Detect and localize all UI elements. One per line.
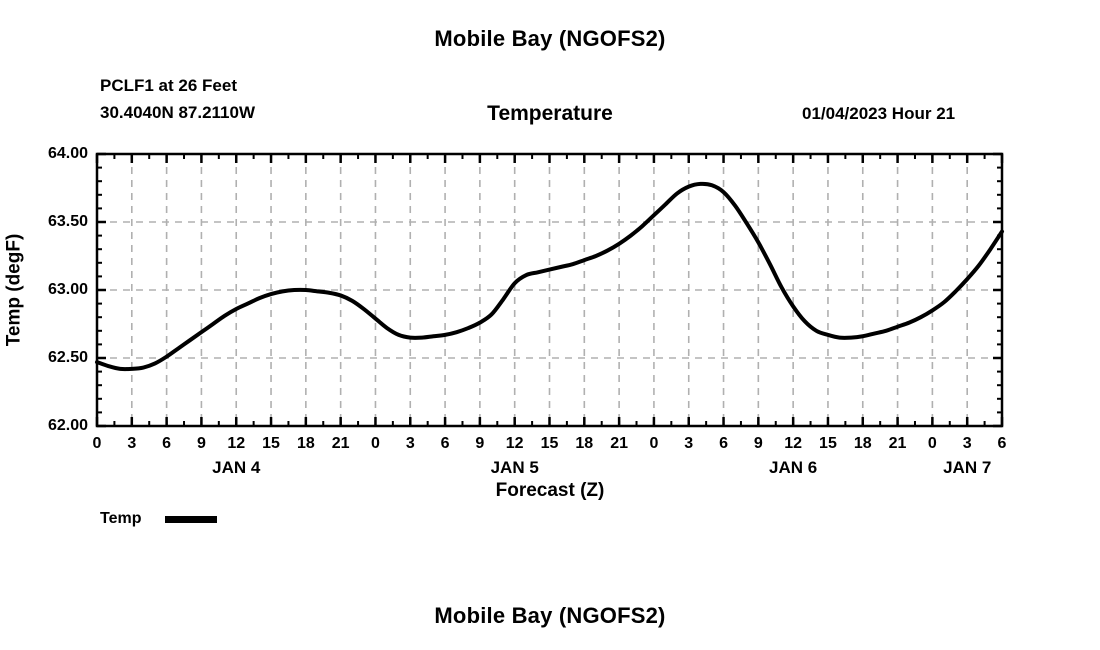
x-tick-label: 21 [883, 436, 913, 452]
x-tick-label: 0 [360, 436, 390, 452]
x-axis-day-label: JAN 4 [176, 459, 296, 476]
x-tick-label: 21 [326, 436, 356, 452]
x-tick-label: 0 [917, 436, 947, 452]
x-tick-label: 6 [152, 436, 182, 452]
y-tick-label: 63.00 [28, 282, 88, 298]
x-tick-label: 3 [674, 436, 704, 452]
x-tick-label: 0 [82, 436, 112, 452]
x-tick-label: 12 [221, 436, 251, 452]
x-tick-label: 15 [535, 436, 565, 452]
x-tick-label: 15 [813, 436, 843, 452]
x-tick-label: 18 [291, 436, 321, 452]
x-tick-label: 12 [500, 436, 530, 452]
x-tick-label: 9 [186, 436, 216, 452]
x-tick-label: 6 [430, 436, 460, 452]
x-tick-label: 6 [987, 436, 1017, 452]
x-axis-day-label: JAN 6 [733, 459, 853, 476]
temperature-forecast-figure: Mobile Bay (NGOFS2) PCLF1 at 26 Feet 30.… [0, 0, 1100, 650]
y-tick-label: 64.00 [28, 146, 88, 162]
x-tick-label: 9 [465, 436, 495, 452]
y-tick-label: 63.50 [28, 214, 88, 230]
y-tick-label: 62.50 [28, 350, 88, 366]
x-tick-label: 3 [395, 436, 425, 452]
x-tick-label: 9 [743, 436, 773, 452]
x-tick-label: 0 [639, 436, 669, 452]
legend-label: Temp [100, 511, 141, 527]
x-tick-label: 6 [709, 436, 739, 452]
x-axis-day-label: JAN 5 [455, 459, 575, 476]
y-tick-label: 62.00 [28, 418, 88, 434]
x-tick-label: 3 [117, 436, 147, 452]
x-tick-label: 15 [256, 436, 286, 452]
chart-plot-area [0, 0, 1100, 650]
x-tick-label: 12 [778, 436, 808, 452]
x-tick-label: 18 [848, 436, 878, 452]
x-tick-label: 3 [952, 436, 982, 452]
x-tick-label: 21 [604, 436, 634, 452]
legend-swatch-temp [165, 516, 217, 523]
x-axis-day-label: JAN 7 [907, 459, 1027, 476]
grid-lines [97, 154, 1002, 426]
page-title-bottom: Mobile Bay (NGOFS2) [0, 605, 1100, 627]
x-tick-label: 18 [569, 436, 599, 452]
